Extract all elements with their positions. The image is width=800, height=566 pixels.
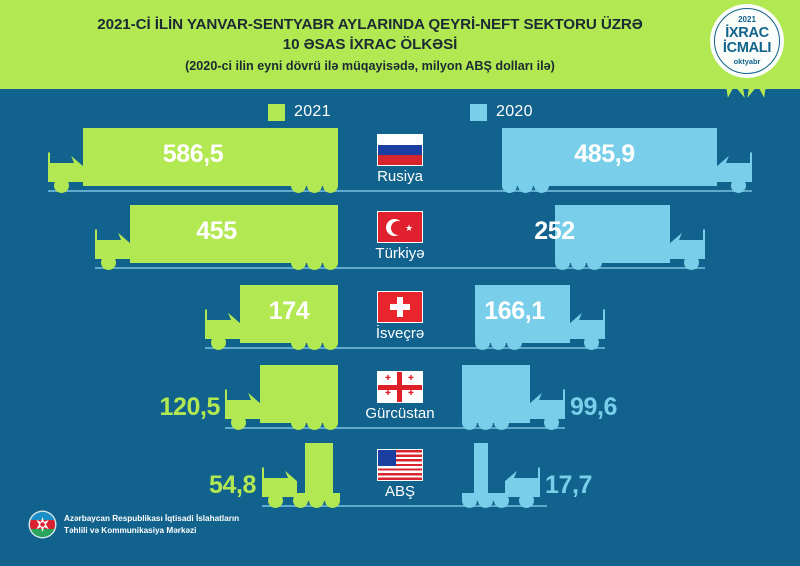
value-label-2021: 120,5	[140, 393, 220, 422]
truck-wheel	[571, 255, 586, 270]
country-name: Rusiya	[377, 169, 423, 186]
truck-wheel	[293, 493, 308, 508]
truck-wheel	[231, 415, 246, 430]
truck-wheel	[684, 255, 699, 270]
truck-wheel	[325, 493, 340, 508]
value-label-2021: 54,8	[178, 471, 256, 500]
azerbaijan-emblem-icon	[30, 512, 55, 537]
truck-wheel	[544, 415, 559, 430]
truck-wheel	[268, 493, 283, 508]
footer-text: Azərbaycan Respublikası İqtisadi İslahat…	[64, 513, 239, 537]
truck-2021-abs	[262, 443, 340, 507]
truck-wheel	[519, 493, 534, 508]
truck-wheel	[555, 255, 570, 270]
seal-month: oktyabr	[734, 58, 761, 65]
truck-trailer	[305, 443, 333, 493]
truck-wheel	[494, 493, 509, 508]
truck-wheel	[323, 335, 338, 350]
country-name: Türkiyə	[375, 246, 424, 263]
country-name: ABŞ	[385, 484, 415, 501]
value-label-2021: 455	[95, 217, 338, 246]
legend-item-2021: 2021	[268, 103, 331, 121]
value-label-2020: 99,6	[570, 393, 650, 422]
truck-trailer	[260, 365, 338, 415]
truck-wheel	[291, 255, 306, 270]
truck-wheel	[101, 255, 116, 270]
truck-wheel	[587, 255, 602, 270]
footer-line1: Azərbaycan Respublikası İqtisadi İslahat…	[64, 513, 239, 525]
value-label-2020: 252	[497, 217, 612, 246]
truck-2020-abs	[462, 443, 540, 507]
flag-turkey-icon: ★	[377, 211, 423, 243]
data-row-abs: 54,8 ABŞ 17,7	[0, 443, 800, 509]
truck-wheel	[307, 335, 322, 350]
value-label-2020: 166,1	[467, 297, 562, 326]
truck-trailer	[474, 443, 488, 493]
truck-wheel	[54, 178, 69, 193]
seal-title-line2: İCMALI	[723, 41, 771, 56]
truck-wheel	[475, 335, 490, 350]
truck-wheel	[323, 415, 338, 430]
data-row-isvecre: 174 İsveçrə 166,1	[0, 285, 800, 351]
truck-wheel	[309, 493, 324, 508]
truck-windshield	[679, 227, 703, 240]
country-name: Gürcüstan	[365, 406, 434, 423]
truck-wheel	[291, 178, 306, 193]
page-subtitle: (2020-ci ilin eyni dövrü ilə müqayisədə,…	[185, 57, 555, 76]
truck-wheel	[291, 415, 306, 430]
truck-wheel	[478, 415, 493, 430]
value-label-2021: 586,5	[48, 140, 338, 169]
country-block-rusiya: Rusiya	[365, 134, 435, 186]
truck-wheel	[462, 415, 477, 430]
legend-swatch-2020	[470, 104, 487, 121]
page-title-line2: 10 ƏSAS İXRAC ÖLKƏSİ	[283, 35, 458, 55]
country-block-abs: ABŞ	[365, 449, 435, 501]
truck-windshield	[264, 465, 288, 478]
truck-2021-isvecre: 174	[205, 285, 338, 349]
truck-wheel	[518, 178, 533, 193]
value-label-2020: 485,9	[497, 140, 712, 169]
truck-windshield	[227, 387, 251, 400]
country-name: İsveçrə	[376, 326, 424, 343]
flag-usa-icon	[377, 449, 423, 481]
footer-branding: Azərbaycan Respublikası İqtisadi İslahat…	[30, 512, 239, 537]
truck-windshield	[726, 150, 750, 163]
country-block-isvecre: İsveçrə	[365, 291, 435, 343]
ixrac-icmali-seal: 2021 İXRAC İCMALI oktyabr	[704, 0, 790, 104]
truck-wheel	[731, 178, 746, 193]
header-band: 2021-Cİ İLİN YANVAR-SENTYABR AYLARINDA Q…	[0, 0, 800, 89]
data-row-gurcustan: 120,5 ✚ ✚ ✚ ✚ Gürcüstan 99,6	[0, 365, 800, 431]
truck-2021-gurcustan	[225, 365, 338, 429]
legend-swatch-2021	[268, 104, 285, 121]
truck-wheel	[291, 335, 306, 350]
truck-windshield	[579, 307, 603, 320]
truck-wheel	[494, 415, 509, 430]
chart-legend: 2021 2020	[0, 100, 800, 126]
country-block-gurcustan: ✚ ✚ ✚ ✚ Gürcüstan	[365, 371, 435, 423]
seal-year: 2021	[738, 16, 756, 24]
truck-wheel	[211, 335, 226, 350]
truck-2021-rusiya: 586,5	[48, 128, 338, 192]
legend-item-2020: 2020	[470, 103, 533, 121]
truck-wheel	[502, 178, 517, 193]
value-label-2021: 174	[240, 297, 338, 326]
truck-trailer	[462, 365, 530, 415]
truck-wheel	[307, 415, 322, 430]
truck-2021-turkiye: 455	[95, 205, 338, 269]
footer-line2: Təhlili və Kommunikasiya Mərkəzi	[64, 525, 239, 537]
truck-wheel	[507, 335, 522, 350]
truck-wheel	[584, 335, 599, 350]
infographic-canvas: 2021-Cİ İLİN YANVAR-SENTYABR AYLARINDA Q…	[0, 0, 800, 566]
seal-disc: 2021 İXRAC İCMALI oktyabr	[710, 4, 784, 78]
page-title-line1: 2021-Cİ İLİN YANVAR-SENTYABR AYLARINDA Q…	[97, 15, 642, 35]
data-row-rusiya: 586,5 Rusiya 485,9	[0, 128, 800, 194]
truck-windshield	[207, 307, 231, 320]
truck-wheel	[534, 178, 549, 193]
truck-wheel	[307, 178, 322, 193]
truck-windshield	[514, 465, 538, 478]
flag-georgia-icon: ✚ ✚ ✚ ✚	[377, 371, 423, 403]
truck-wheel	[323, 178, 338, 193]
flag-russia-icon	[377, 134, 423, 166]
truck-wheel	[307, 255, 322, 270]
flag-switzerland-icon	[377, 291, 423, 323]
legend-label-2020: 2020	[496, 103, 533, 121]
truck-2020-gurcustan	[462, 365, 565, 429]
truck-windshield	[539, 387, 563, 400]
country-block-turkiye: ★ Türkiyə	[365, 211, 435, 263]
eight-point-star-icon	[35, 517, 50, 532]
truck-wheel	[491, 335, 506, 350]
truck-wheel	[478, 493, 493, 508]
truck-wheel	[323, 255, 338, 270]
data-row-turkiye: 455 ★ Türkiyə 252	[0, 205, 800, 271]
truck-wheel	[462, 493, 477, 508]
value-label-2020: 17,7	[545, 471, 625, 500]
legend-label-2021: 2021	[294, 103, 331, 121]
